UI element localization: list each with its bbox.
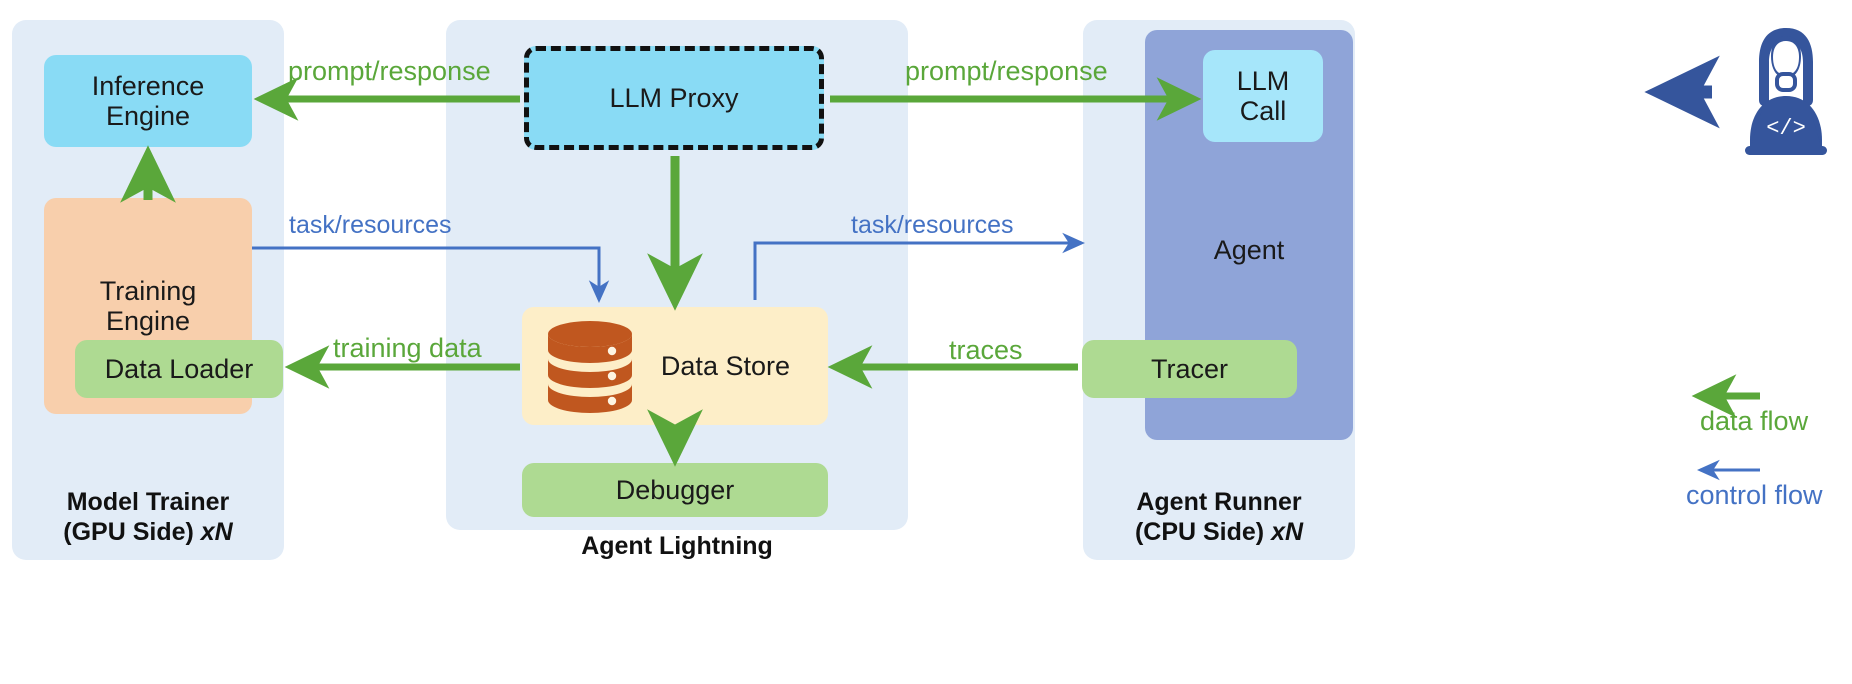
- agent-runner-title-suffix: xN: [1271, 518, 1303, 546]
- llm-call-label-line1: LLM: [1237, 66, 1290, 96]
- edge-label-text: task/resources: [289, 211, 452, 239]
- panel-title-agent-runner: Agent Runner (CPU Side) xN: [1083, 488, 1355, 547]
- legend-label-control-flow: control flow: [1686, 480, 1823, 511]
- model-trainer-title-line2: (GPU Side): [63, 518, 194, 546]
- edge-label-text: prompt/response: [905, 56, 1108, 86]
- data-store-label: Data Store: [661, 351, 790, 381]
- agent-runner-title-line1: Agent Runner: [1083, 488, 1355, 518]
- llm-call-label-line2: Call: [1240, 96, 1287, 126]
- edge-label-text: task/resources: [851, 211, 1014, 239]
- debugger-label: Debugger: [616, 475, 735, 505]
- edge-label-task-resources-left: task/resources: [289, 211, 452, 240]
- edge-label-prompt-response-left: prompt/response: [288, 56, 491, 87]
- data-loader-label: Data Loader: [105, 354, 254, 384]
- model-trainer-title-line1: Model Trainer: [12, 488, 284, 518]
- edge-label-prompt-response-right: prompt/response: [905, 56, 1108, 87]
- training-engine-label-line1: Training: [100, 276, 197, 306]
- panel-title-agent-lightning: Agent Lightning: [446, 532, 908, 562]
- edge-label-text: prompt/response: [288, 56, 491, 86]
- database-icon: [544, 318, 636, 414]
- developer-person-laptop-icon: </>: [1730, 22, 1842, 162]
- training-engine-label-line2: Engine: [106, 306, 190, 336]
- node-inference-engine[interactable]: Inference Engine: [44, 55, 252, 147]
- node-data-loader[interactable]: Data Loader: [75, 340, 283, 398]
- llm-proxy-label: LLM Proxy: [609, 83, 738, 113]
- agent-lightning-title: Agent Lightning: [446, 532, 908, 562]
- edge-label-task-resources-right: task/resources: [851, 211, 1014, 240]
- inference-engine-label-line1: Inference: [92, 71, 205, 101]
- agent-label: Agent: [1214, 235, 1285, 265]
- tracer-label: Tracer: [1151, 354, 1228, 384]
- node-debugger[interactable]: Debugger: [522, 463, 828, 517]
- legend-label-data-flow: data flow: [1700, 406, 1808, 437]
- inference-engine-label-line2: Engine: [106, 101, 190, 131]
- node-tracer[interactable]: Tracer: [1082, 340, 1297, 398]
- legend-text: control flow: [1686, 480, 1823, 510]
- model-trainer-title-suffix: xN: [201, 518, 233, 546]
- code-glyph: </>: [1766, 116, 1806, 141]
- legend-text: data flow: [1700, 406, 1808, 436]
- edge-label-training-data: training data: [333, 333, 482, 364]
- agent-runner-title-line2: (CPU Side): [1135, 518, 1264, 546]
- architecture-diagram: Training Engine Inference Engine Data Lo…: [0, 0, 1852, 684]
- panel-title-model-trainer: Model Trainer (GPU Side) xN: [12, 488, 284, 547]
- edge-label-traces: traces: [949, 335, 1023, 366]
- node-llm-call[interactable]: LLM Call: [1203, 50, 1323, 142]
- node-llm-proxy[interactable]: LLM Proxy: [524, 46, 824, 150]
- edge-label-text: traces: [949, 335, 1023, 365]
- edge-label-text: training data: [333, 333, 482, 363]
